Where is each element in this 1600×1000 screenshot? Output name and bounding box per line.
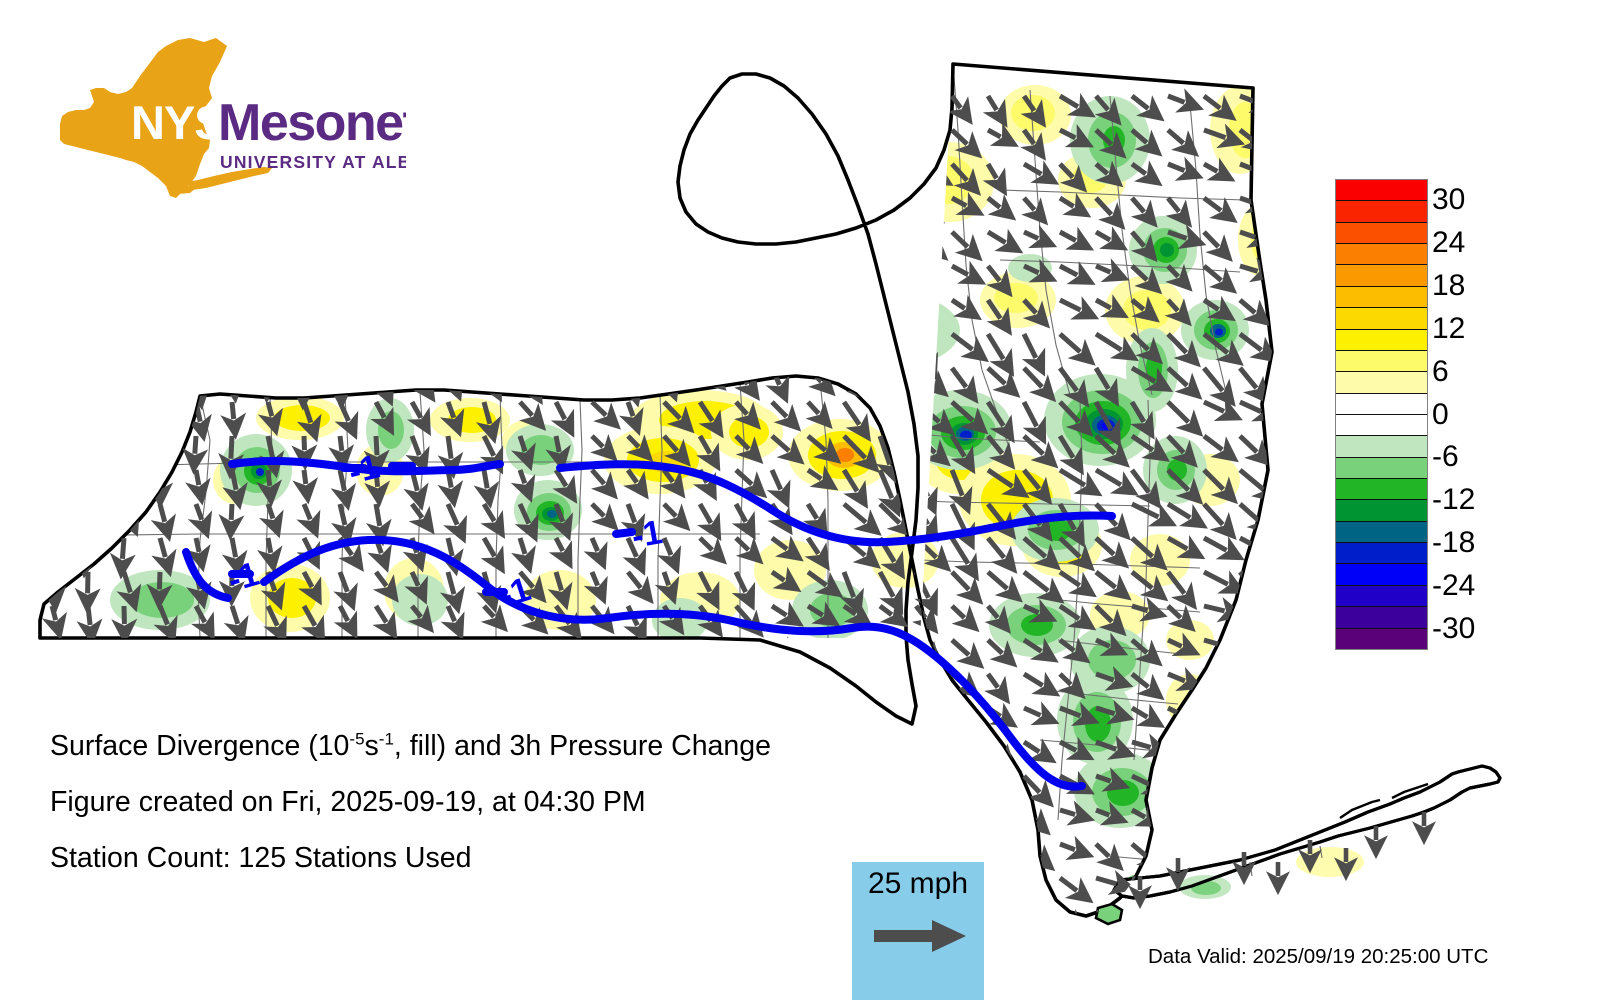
- wind-vector: [448, 96, 455, 108]
- wind-vector: [196, 640, 203, 657]
- wind-vector: [520, 198, 527, 215]
- wind-vector: [160, 402, 167, 419]
- wind-vector: [376, 96, 379, 111]
- wind-vector: [628, 300, 636, 315]
- wind-vector: [556, 912, 566, 927]
- wind-vector: [1024, 844, 1040, 858]
- wind-vector: [484, 198, 493, 218]
- wind-vector: [556, 334, 564, 349]
- wind-vector: [1276, 742, 1294, 749]
- wind-vector: [87, 402, 88, 424]
- wind-vector: [412, 96, 413, 111]
- wind-vector: [124, 912, 126, 931]
- wind-vector: [196, 368, 199, 390]
- wind-vector: [484, 266, 494, 283]
- wind-vector: [1204, 708, 1219, 718]
- wind-vector: [484, 96, 489, 118]
- colorbar-band-12: [1336, 330, 1427, 351]
- wind-vector: [412, 266, 424, 284]
- wind-vector: [268, 912, 272, 932]
- wind-vector: [340, 300, 347, 317]
- wind-vector: [88, 674, 93, 695]
- divergence-colorbar: [1335, 179, 1428, 650]
- wind-vector: [304, 674, 308, 692]
- wind-vector: [376, 164, 386, 182]
- wind-vector: [376, 232, 384, 252]
- wind-vector: [700, 300, 714, 312]
- wind-vector: [988, 776, 1005, 788]
- wind-vector: [1276, 470, 1290, 487]
- wind-vector: [412, 334, 420, 352]
- wind-vector: [808, 674, 819, 690]
- wind-vector: [52, 504, 59, 525]
- wind-vector: [556, 436, 559, 452]
- wind-vector: [1240, 878, 1255, 880]
- wind-vector: [160, 334, 164, 355]
- wind-vector: [232, 164, 235, 179]
- wind-vector: [916, 674, 933, 682]
- caption-station-count-line: Station Count: 125 Stations Used: [50, 830, 950, 886]
- wind-vector: [664, 300, 670, 318]
- wind-vector: [880, 640, 893, 652]
- wind-vector: [808, 300, 822, 313]
- wind-vector: [1240, 674, 1259, 684]
- colorbar-band-24: [1336, 244, 1427, 265]
- wind-vector: [520, 232, 527, 249]
- wind-vector: [232, 368, 234, 383]
- colorbar-band--9: [1336, 479, 1427, 500]
- wind-vector: [844, 198, 855, 217]
- colorbar-band--3: [1336, 436, 1427, 457]
- wind-vector: [916, 708, 930, 715]
- wind-vector: [1240, 776, 1254, 782]
- wind-vector: [880, 674, 896, 689]
- wind-vector: [628, 674, 637, 690]
- wind-vector: [52, 198, 57, 219]
- wind-vector: [844, 640, 859, 656]
- wind-vector: [1168, 912, 1182, 924]
- wind-vector: [412, 300, 414, 315]
- wind-vector: [772, 164, 779, 183]
- wind-vector: [700, 266, 708, 279]
- caption-title-prefix: Surface Divergence (10: [50, 730, 349, 762]
- wind-vector: [86, 96, 88, 111]
- wind-vector: [268, 640, 271, 658]
- colorbar-band-9: [1336, 351, 1427, 372]
- wind-vector: [52, 674, 60, 693]
- wind-vector: [628, 164, 635, 181]
- wind-vector: [268, 300, 273, 317]
- wind-vector: [120, 368, 124, 391]
- wind-vector: [231, 504, 232, 520]
- colorbar-tick--30: -30: [1432, 614, 1475, 644]
- wind-vector: [304, 334, 309, 353]
- wind-vector: [520, 640, 532, 654]
- wind-vector: [844, 368, 860, 387]
- wind-vector: [484, 368, 492, 384]
- wind-vector: [988, 878, 1002, 885]
- colorbar-band-27: [1336, 223, 1427, 244]
- wind-vector: [988, 912, 1005, 923]
- wind-vector: [844, 300, 859, 316]
- wind-vector: [844, 96, 857, 105]
- wind-vector: [772, 130, 788, 143]
- colorbar-band--6: [1336, 458, 1427, 479]
- wind-vector: [88, 504, 89, 518]
- wind-vector: [52, 130, 53, 150]
- wind-vector: [628, 198, 635, 217]
- wind-vector: [592, 266, 596, 280]
- wind-vector: [1168, 810, 1184, 821]
- wind-vector: [592, 164, 604, 176]
- wind-vector: [772, 708, 783, 718]
- colorbar-band--15: [1336, 522, 1427, 543]
- wind-vector: [232, 402, 234, 419]
- wind-vector: [304, 130, 306, 149]
- wind-vector: [124, 640, 132, 659]
- wind-vector: [844, 266, 853, 281]
- wind-vector: [376, 334, 377, 356]
- wind-vector: [304, 436, 305, 450]
- wind-vector: [340, 674, 345, 690]
- wind-vector: [1276, 572, 1300, 584]
- wind-vector: [1240, 844, 1257, 850]
- caption-title-suffix: , fill) and 3h Pressure Change: [394, 730, 771, 762]
- wind-vector: [196, 538, 199, 552]
- wind-vector: [808, 266, 824, 277]
- wind-vector: [592, 198, 601, 212]
- wind-vector: [376, 640, 382, 654]
- wind-vector: [1276, 776, 1297, 782]
- wind-vector: [88, 606, 90, 625]
- colorbar-band--18: [1336, 543, 1427, 564]
- wind-vector: [448, 266, 458, 282]
- wind-vector: [988, 742, 1002, 756]
- wind-vector: [1276, 606, 1295, 616]
- wind-vector: [880, 232, 892, 251]
- wind-vector: [124, 470, 129, 487]
- wind-vector: [1276, 504, 1292, 520]
- wind-vector: [88, 436, 91, 451]
- wind-vector: [448, 436, 451, 459]
- wind-vector: [736, 96, 747, 116]
- wind-vector: [844, 708, 856, 716]
- wind-vector: [160, 912, 165, 925]
- wind-vector: [1276, 232, 1291, 239]
- wind-vector: [592, 96, 595, 112]
- wind-vector: [880, 402, 893, 424]
- wind-vector: [124, 504, 130, 518]
- wind-vector: [700, 368, 711, 377]
- wind-vector: [194, 300, 197, 320]
- colorbar-tick--6: -6: [1432, 442, 1459, 472]
- wind-vector: [232, 538, 236, 557]
- wind-vector: [196, 164, 201, 183]
- wind-vector: [628, 334, 639, 349]
- wind-vector: [85, 130, 88, 149]
- wind-vector: [664, 266, 669, 280]
- wind-vector: [196, 912, 203, 925]
- wind-vector: [520, 368, 532, 387]
- caption-exponent-1: -5: [349, 730, 364, 749]
- wind-vector: [159, 96, 160, 119]
- wind-vector: [592, 334, 597, 347]
- wind-vector: [664, 674, 675, 687]
- wind-vector: [119, 130, 124, 152]
- wind-vector: [121, 198, 124, 212]
- wind-vector: [808, 198, 820, 210]
- wind-vector: [700, 232, 707, 251]
- wind-vector: [268, 198, 269, 218]
- wind-vector: [880, 164, 895, 178]
- wind-vector: [88, 912, 90, 929]
- wind-vector: [123, 402, 124, 422]
- wind-vector: [628, 640, 638, 650]
- wind-vector: [484, 300, 492, 315]
- wind-vector: [916, 300, 923, 314]
- wind-vector: [556, 640, 569, 653]
- wind-vector: [196, 470, 199, 485]
- wind-vector: [628, 368, 633, 387]
- wind-vector: [880, 368, 894, 393]
- wind-vector: [664, 232, 668, 247]
- wind-vector: [86, 538, 88, 558]
- long-island-shape: [1114, 766, 1500, 898]
- colorbar-tick--18: -18: [1432, 528, 1475, 558]
- colorbar-tick-30: 30: [1432, 185, 1465, 215]
- colorbar-tick-6: 6: [1432, 357, 1449, 387]
- wind-vector: [988, 844, 1004, 852]
- wind-vector: [1060, 912, 1070, 922]
- wind-vector: [736, 266, 749, 277]
- wind-vector: [952, 742, 967, 757]
- colorbar-tick-12: 12: [1432, 314, 1465, 344]
- colorbar-band-21: [1336, 265, 1427, 286]
- wind-vector: [304, 266, 305, 281]
- wind-vector: [772, 232, 785, 249]
- wind-vector: [448, 198, 452, 218]
- wind-vector: [376, 198, 388, 218]
- colorbar-band--30: [1336, 629, 1427, 649]
- wind-vector: [232, 198, 234, 213]
- wind-vector: [232, 912, 236, 930]
- wind-vector: [844, 334, 858, 361]
- wind-vector: [592, 674, 598, 688]
- colorbar-tick--12: -12: [1432, 485, 1475, 515]
- caption-exponent-2: -1: [379, 730, 394, 749]
- wind-vector: [592, 232, 599, 248]
- wind-vector: [592, 300, 597, 321]
- wind-vector: [160, 232, 166, 246]
- wind-vector: [340, 198, 341, 215]
- wind-vector: [520, 674, 526, 687]
- wind-vector: [124, 300, 127, 322]
- wind-vector: [448, 300, 460, 318]
- wind-vector: [340, 912, 349, 927]
- wind-vector: [232, 130, 237, 143]
- wind-vector: [1276, 368, 1301, 377]
- wind-vector: [232, 640, 234, 662]
- wind-vector: [448, 334, 458, 351]
- wind-vector: [628, 96, 642, 110]
- colorbar-band--27: [1336, 607, 1427, 628]
- wind-vector: [628, 130, 640, 146]
- wind-vector: [592, 368, 604, 383]
- caption-title-line: Surface Divergence (10-5s-1, fill) and 3…: [50, 718, 950, 774]
- map-figure: NYS Mesonet UNIVERSITY AT ALBANY: [0, 0, 1600, 1000]
- wind-vector: [448, 164, 455, 182]
- colorbar-tick--24: -24: [1432, 571, 1475, 601]
- colorbar-tick-18: 18: [1432, 271, 1465, 301]
- wind-vector: [916, 232, 933, 247]
- wind-vector: [520, 266, 522, 281]
- wind-vector: [85, 232, 88, 250]
- wind-vector: [230, 334, 232, 353]
- wind-vector: [160, 640, 163, 655]
- wind-vector: [700, 130, 710, 149]
- wind-vector: [1204, 912, 1220, 916]
- wind-vector: [556, 300, 561, 315]
- wind-vector: [556, 164, 562, 182]
- wind-vector: [340, 368, 341, 389]
- wind-vector: [340, 130, 345, 147]
- wind-vector: [46, 96, 52, 118]
- wind-vector: [556, 266, 562, 283]
- wind-vector: [628, 232, 641, 247]
- wind-vector: [700, 198, 709, 215]
- colorbar-band--21: [1336, 564, 1427, 585]
- wind-vector: [880, 130, 891, 145]
- wind-vector: [952, 776, 970, 784]
- wind-vector: [52, 368, 58, 387]
- wind-vector: [304, 232, 309, 245]
- colorbar-band-15: [1336, 308, 1427, 329]
- wind-vector: [122, 164, 124, 179]
- wind-vector: [772, 912, 789, 923]
- wind-vector: [1204, 810, 1221, 821]
- wind-vector: [412, 368, 424, 385]
- wind-vector: [340, 164, 345, 181]
- wind-vector: [736, 334, 749, 350]
- wind-vector: [700, 164, 706, 180]
- wind-vector: [1132, 912, 1143, 923]
- wind-vector: [1240, 742, 1255, 744]
- wind-vector: [1204, 776, 1220, 781]
- wind-vector: [556, 198, 564, 218]
- wind-vector: [1240, 912, 1260, 918]
- wind-vector: [628, 912, 642, 930]
- wind-vector: [268, 538, 271, 553]
- wind-vector: [340, 436, 342, 451]
- wind-vector: [484, 912, 496, 924]
- wind-vector: [88, 640, 91, 659]
- colorbar-band--12: [1336, 500, 1427, 521]
- wind-vector: [916, 368, 933, 383]
- colorbar-band--24: [1336, 586, 1427, 607]
- wind-vector: [448, 912, 457, 932]
- wind-vector: [304, 164, 305, 183]
- wind-vector: [1168, 776, 1181, 787]
- wind-vector: [121, 96, 124, 114]
- wind-vector: [1276, 810, 1294, 822]
- wind-vector: [340, 232, 342, 255]
- wind-vector: [232, 232, 240, 251]
- wind-vector: [376, 674, 385, 687]
- wind-vector: [340, 640, 350, 657]
- wind-vector: [916, 334, 928, 362]
- wind-vector: [772, 198, 782, 211]
- wind-vector: [88, 368, 90, 386]
- wind-vector: [520, 130, 528, 145]
- wind-vector: [232, 674, 236, 695]
- wind-vector: [1204, 844, 1217, 852]
- wind-vector: [1276, 674, 1293, 677]
- wind-vector: [952, 708, 963, 719]
- wind-vector: [196, 130, 201, 147]
- wind-vector: [267, 232, 268, 247]
- wind-vector: [808, 164, 824, 179]
- wind-vector: [412, 232, 415, 247]
- wind-vector: [736, 300, 748, 310]
- wind-vector: [1276, 708, 1291, 716]
- wind-vector: [52, 164, 57, 183]
- wind-vector: [232, 96, 233, 115]
- wind-vector: [736, 198, 743, 210]
- wind-vector: [412, 674, 418, 688]
- wind-vector: [412, 198, 415, 216]
- colorbar-tick-0: 0: [1432, 400, 1449, 430]
- wind-vector: [520, 912, 528, 929]
- wind-vector: [772, 334, 779, 352]
- wind-vector: [52, 912, 60, 932]
- caption-created-line: Figure created on Fri, 2025-09-19, at 04…: [50, 774, 950, 830]
- wind-vector: [484, 470, 487, 488]
- wind-vector: [51, 402, 52, 419]
- wind-vector: [448, 674, 455, 694]
- wind-scale-key: 25 mph: [852, 862, 984, 1000]
- wind-vector: [556, 368, 567, 384]
- wind-vector: [772, 266, 781, 281]
- colorbar-tick-labels: 3024181260-6-12-18-24-30: [1432, 179, 1562, 650]
- wind-vector: [412, 164, 413, 184]
- wind-vector: [808, 130, 817, 150]
- wind-vector: [1168, 844, 1182, 852]
- wind-vector: [484, 130, 493, 150]
- wind-vector: [196, 266, 201, 281]
- wind-vector: [1276, 198, 1293, 202]
- wind-vector: [52, 572, 54, 592]
- wind-scale-label: 25 mph: [852, 866, 984, 902]
- wind-vector: [121, 266, 125, 283]
- wind-vector: [52, 334, 57, 355]
- wind-vector: [84, 198, 88, 221]
- wind-vector: [196, 674, 203, 688]
- wind-vector: [340, 96, 344, 113]
- wind-vector: [664, 164, 672, 178]
- wind-vector: [448, 130, 460, 147]
- wind-vector: [51, 640, 52, 657]
- wind-vector: [156, 198, 160, 217]
- wind-vector: [664, 198, 671, 217]
- wind-vector: [664, 334, 669, 352]
- wind-vector: [808, 912, 820, 931]
- wind-vector: [376, 368, 385, 388]
- wind-vector: [772, 300, 781, 317]
- wind-vector: [484, 164, 491, 182]
- wind-vector: [1276, 436, 1303, 446]
- wind-vector: [448, 232, 456, 247]
- wind-vector: [1276, 164, 1292, 174]
